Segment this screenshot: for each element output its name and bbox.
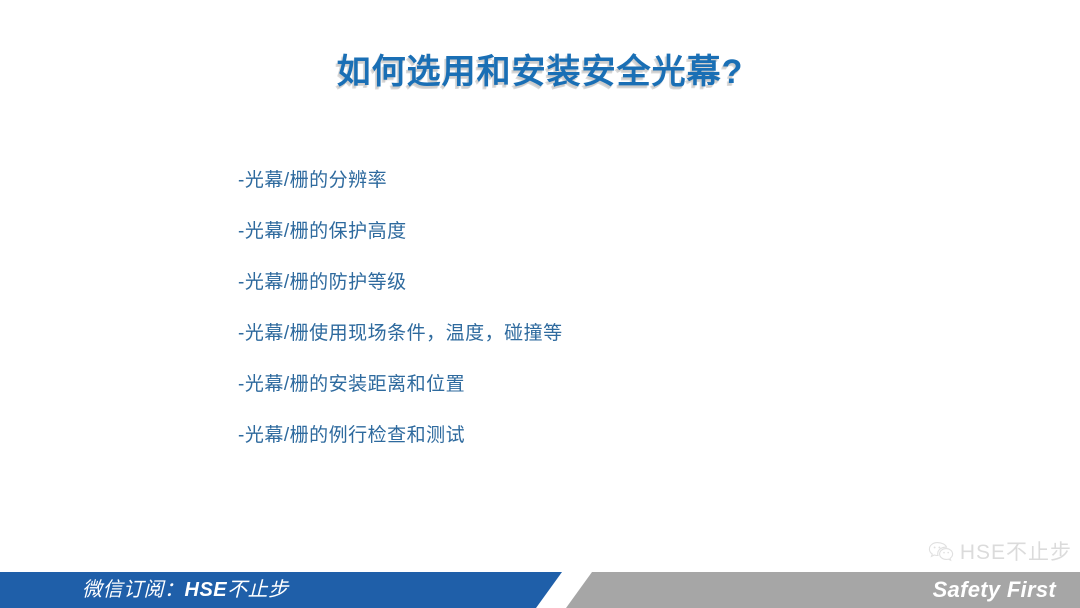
watermark-text: HSE不止步	[960, 541, 1072, 565]
slide-title-text: 如何选用和安装安全光幕?	[337, 52, 744, 93]
list-item: -光幕/栅的保护高度	[238, 206, 998, 257]
wechat-icon	[928, 541, 954, 565]
list-item: -光幕/栅使用现场条件，温度，碰撞等	[238, 308, 998, 359]
list-item: -光幕/栅的安装距离和位置	[238, 359, 998, 410]
bullet-list: -光幕/栅的分辨率 -光幕/栅的保护高度 -光幕/栅的防护等级 -光幕/栅使用现…	[238, 155, 998, 461]
list-item: -光幕/栅的分辨率	[238, 155, 998, 206]
page-title: 如何选用和安装安全光幕?	[0, 52, 1080, 93]
watermark: HSE不止步	[928, 541, 1072, 565]
list-item: -光幕/栅的防护等级	[238, 257, 998, 308]
footer-subscribe-prefix: 微信订阅：	[82, 579, 185, 601]
footer-bar: 微信订阅：HSE不止步 Safety First	[0, 572, 1080, 608]
footer-subscribe-text: 微信订阅：HSE不止步	[82, 572, 289, 608]
footer-slogan: Safety First	[933, 572, 1056, 608]
list-item: -光幕/栅的例行检查和测试	[238, 410, 998, 461]
presentation-slide: 如何选用和安装安全光幕? -光幕/栅的分辨率 -光幕/栅的保护高度 -光幕/栅的…	[0, 0, 1080, 608]
footer-brand-hse: HSE	[185, 579, 228, 601]
footer-subscribe-suffix: 不止步	[227, 579, 289, 601]
